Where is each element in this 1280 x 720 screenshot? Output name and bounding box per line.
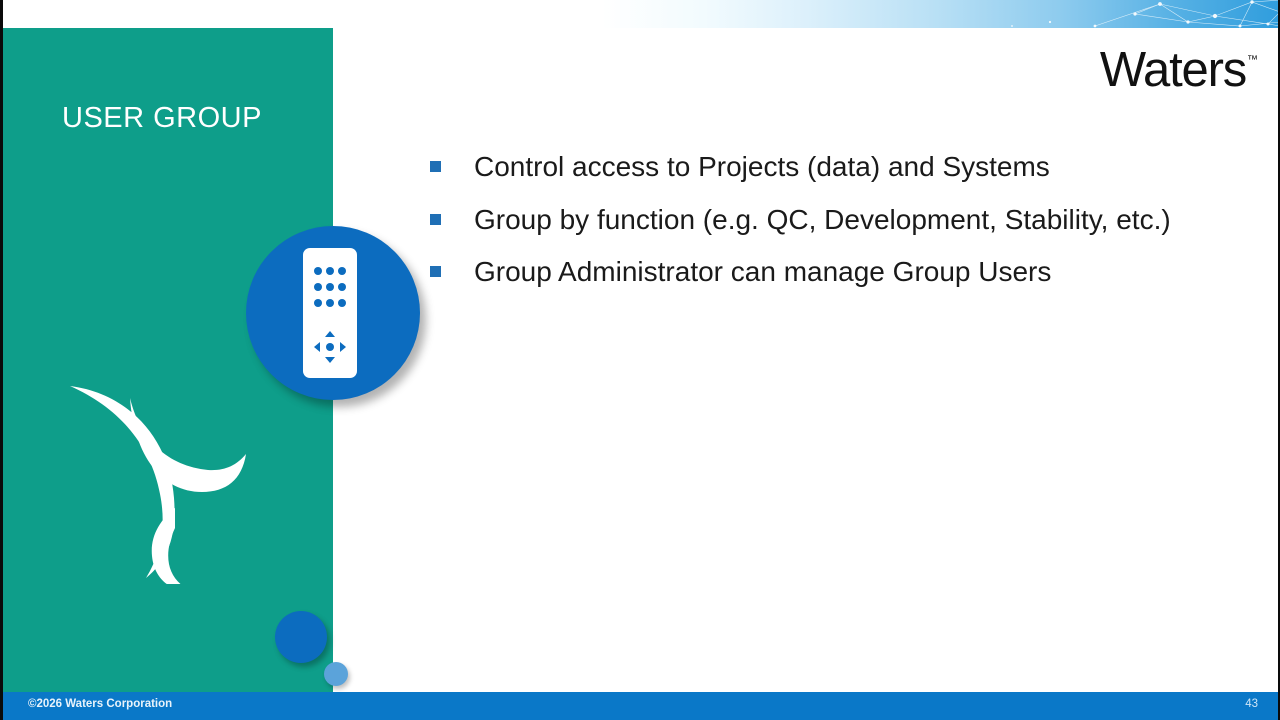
frame-edge-left <box>0 0 3 720</box>
list-item-label: Control access to Projects (data) and Sy… <box>474 148 1050 187</box>
list-item: Control access to Projects (data) and Sy… <box>430 148 1220 187</box>
waters-logo: Waters ™ <box>1100 46 1258 95</box>
keypad-dot <box>338 299 346 307</box>
arrow-down-icon <box>325 357 335 363</box>
keypad-dot <box>338 283 346 291</box>
keypad-dot <box>326 267 334 275</box>
square-bullet-icon <box>430 214 441 225</box>
keypad <box>312 267 348 307</box>
keypad-dot <box>314 267 322 275</box>
keypad-dot <box>326 283 334 291</box>
keypad-dot <box>314 283 322 291</box>
keypad-dot <box>314 299 322 307</box>
arrow-right-icon <box>340 342 346 352</box>
list-item: Group Administrator can manage Group Use… <box>430 253 1220 292</box>
waters-wordmark: Waters <box>1100 46 1246 95</box>
network-pattern-icon <box>640 0 1280 28</box>
page-title: USER GROUP <box>62 102 332 135</box>
square-bullet-icon <box>430 266 441 277</box>
arrow-left-icon <box>314 342 320 352</box>
trademark-symbol: ™ <box>1247 54 1258 66</box>
presentation-slide: USER GROUP <box>0 0 1280 720</box>
remote-control-badge <box>246 226 420 400</box>
list-item-label: Group Administrator can manage Group Use… <box>474 253 1051 292</box>
keypad-dot <box>338 267 346 275</box>
keypad-dot <box>326 299 334 307</box>
footer-bar: ©2026 Waters Corporation 43 <box>0 692 1280 720</box>
decorative-circle-small <box>324 662 348 686</box>
waters-swoosh-icon <box>58 368 258 584</box>
dpad <box>313 330 347 364</box>
decorative-circle-large <box>275 611 327 663</box>
top-banner <box>0 0 1280 28</box>
dpad-center-dot <box>326 343 334 351</box>
bullet-list: Control access to Projects (data) and Sy… <box>430 148 1220 306</box>
page-number: 43 <box>1245 698 1258 710</box>
list-item-label: Group by function (e.g. QC, Development,… <box>474 201 1171 240</box>
copyright-text: ©2026 Waters Corporation <box>28 698 172 710</box>
list-item: Group by function (e.g. QC, Development,… <box>430 201 1220 240</box>
square-bullet-icon <box>430 161 441 172</box>
remote-control-icon <box>303 248 357 378</box>
arrow-up-icon <box>325 331 335 337</box>
